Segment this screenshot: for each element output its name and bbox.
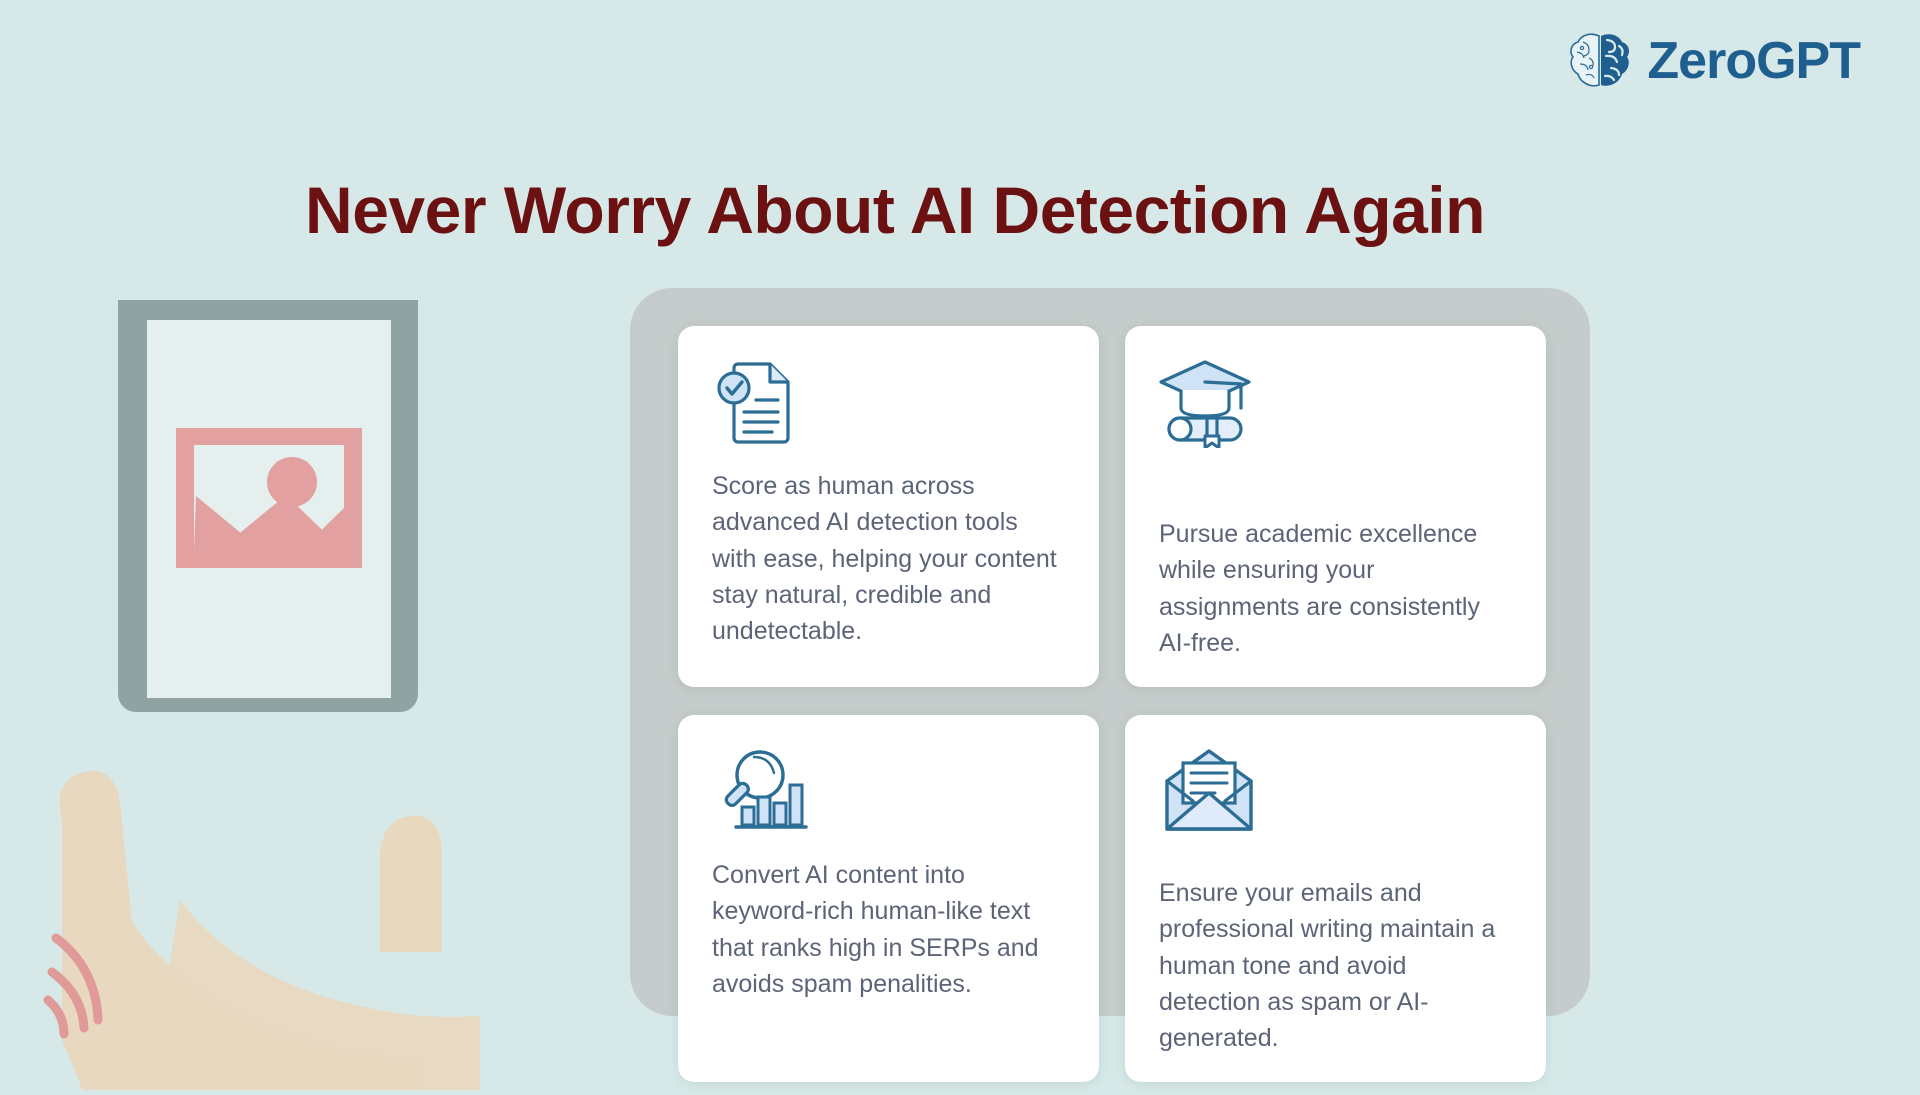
page-title: Never Worry About AI Detection Again — [0, 172, 1790, 248]
feature-card-text: Ensure your emails and professional writ… — [1159, 875, 1512, 1056]
magnifier-bar-chart-icon — [712, 745, 1065, 853]
hand-holding-phone-illustration — [0, 300, 620, 1080]
document-check-icon — [712, 356, 1065, 464]
image-placeholder-icon — [176, 428, 362, 568]
brain-icon — [1567, 30, 1633, 92]
feature-card-text: Convert AI content into keyword-rich hum… — [712, 857, 1065, 1002]
feature-card-email[interactable]: Ensure your emails and professional writ… — [1125, 715, 1546, 1082]
feature-card-academic[interactable]: Pursue academic excellence while ensurin… — [1125, 326, 1546, 687]
feature-card-detection[interactable]: Score as human across advanced AI detect… — [678, 326, 1099, 687]
feature-card-text: Pursue academic excellence while ensurin… — [1159, 516, 1512, 661]
open-envelope-icon — [1159, 745, 1512, 853]
brand-name: ZeroGPT — [1647, 35, 1860, 87]
feature-card-text: Score as human across advanced AI detect… — [712, 468, 1065, 649]
feature-card-seo[interactable]: Convert AI content into keyword-rich hum… — [678, 715, 1099, 1082]
features-panel: Score as human across advanced AI detect… — [630, 288, 1590, 1016]
brand-logo-area: ZeroGPT — [1567, 30, 1860, 92]
graduation-cap-diploma-icon — [1159, 356, 1512, 464]
